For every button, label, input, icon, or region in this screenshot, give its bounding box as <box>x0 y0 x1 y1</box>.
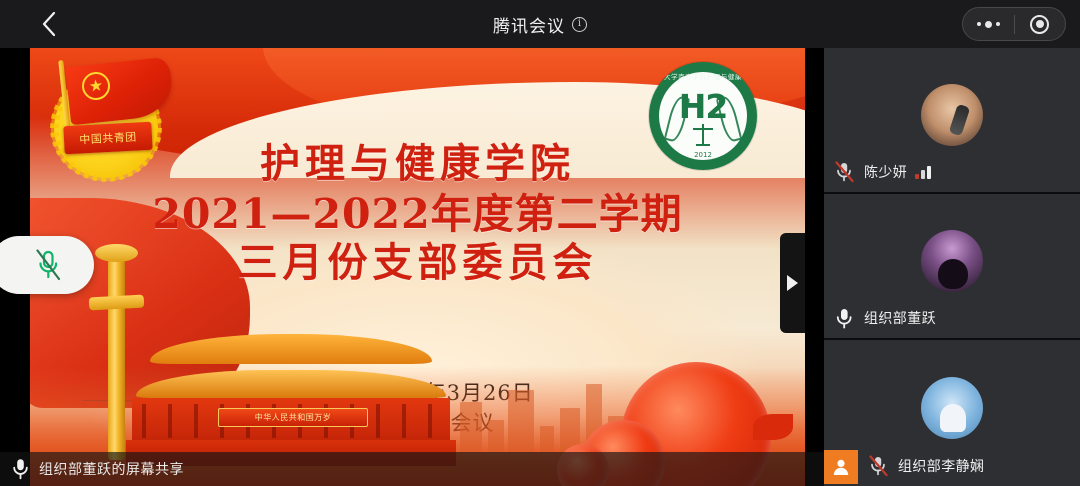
headline-line-2: 2021—2022年度第二学期 <box>30 189 805 239</box>
meeting-screen: 腾讯会议 i ★ 中国共青团 <box>0 0 1080 486</box>
participant-footer: 组织部董跃 <box>824 306 1080 330</box>
triangle-right-icon <box>787 275 798 291</box>
expand-panel-button[interactable] <box>780 233 805 333</box>
info-icon[interactable]: i <box>572 17 587 32</box>
navbar: 腾讯会议 i <box>0 0 1080 48</box>
navbar-title-group: 腾讯会议 i <box>0 0 1080 48</box>
gate-banner-text: 中华人民共和国万岁 <box>218 408 368 427</box>
participant-tile[interactable]: 陈少妍 <box>824 48 1080 194</box>
screen-share-bar: 组织部董跃的屏幕共享 <box>0 452 824 486</box>
more-dots-icon[interactable] <box>963 21 1014 28</box>
headline-line-3: 三月份支部委员会 <box>30 239 805 288</box>
participant-footer: 陈少妍 <box>824 160 1080 184</box>
logo-arc-text: 中山大学南方学院护理与健康学院 <box>649 71 757 81</box>
headline-line-1: 护理与健康学院 <box>30 140 805 189</box>
page-title: 腾讯会议 <box>493 12 565 37</box>
decor-leaf <box>753 414 793 440</box>
screen-share-label: 组织部董跃的屏幕共享 <box>39 459 184 479</box>
participant-footer: 组织部李静娴 <box>824 454 1080 478</box>
participant-name: 组织部李静娴 <box>898 456 984 476</box>
participant-name: 陈少妍 <box>864 162 907 182</box>
shared-slide: ★ 中国共青团 中山大学南方学院护理与健康学院 H2 2012 护理与健康学院 … <box>30 48 805 486</box>
shared-screen-stage[interactable]: ★ 中国共青团 中山大学南方学院护理与健康学院 H2 2012 护理与健康学院 … <box>0 48 824 486</box>
star-icon: ★ <box>88 77 104 94</box>
participant-rail[interactable]: 陈少妍 组织部董跃 <box>824 48 1080 486</box>
record-target-icon[interactable] <box>1015 15 1066 34</box>
avatar <box>921 377 983 439</box>
tiananmen-gate: 中华人民共和国万岁 <box>126 326 456 466</box>
huabiao-column <box>108 260 125 460</box>
slide-headline: 护理与健康学院 2021—2022年度第二学期 三月份支部委员会 <box>30 140 805 288</box>
avatar <box>921 230 983 292</box>
mic-muted-icon <box>868 455 890 477</box>
mic-toggle-float-button[interactable] <box>0 236 94 294</box>
participant-tile[interactable]: 组织部董跃 <box>824 194 1080 340</box>
mic-muted-icon <box>33 248 63 282</box>
mic-icon <box>12 458 29 480</box>
participant-name: 组织部董跃 <box>864 308 936 328</box>
avatar <box>921 84 983 146</box>
signal-bars-icon <box>915 166 931 179</box>
logo-monogram: H2 <box>649 90 757 123</box>
mic-icon <box>834 307 856 329</box>
participant-tile[interactable]: 组织部李静娴 <box>824 340 1080 486</box>
mic-muted-icon <box>834 161 856 183</box>
miniprogram-capsule[interactable] <box>962 7 1066 41</box>
